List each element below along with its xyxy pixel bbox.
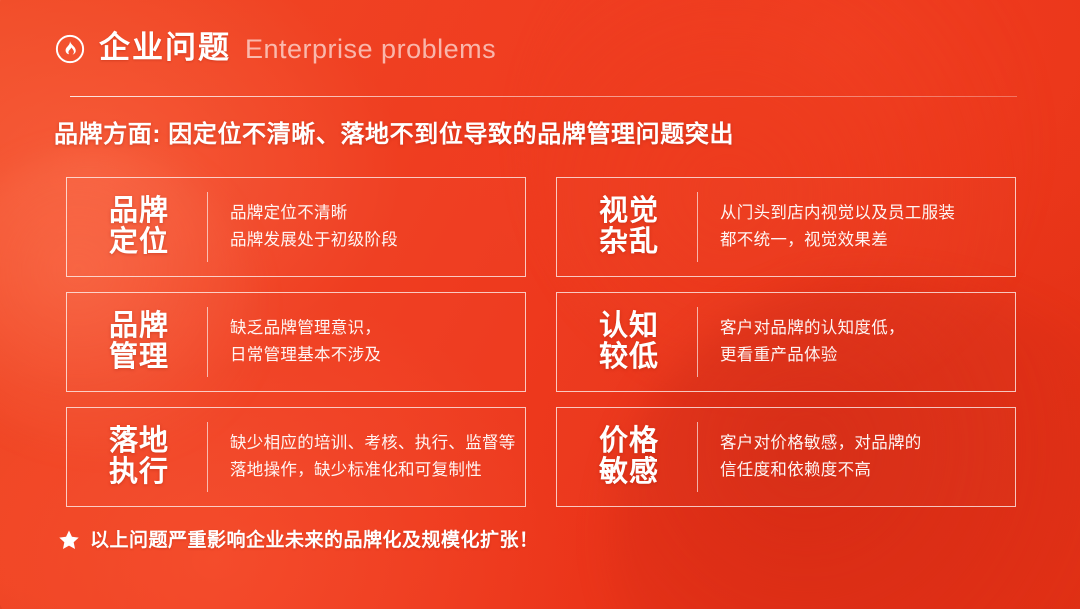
problem-card-desc-line1: 客户对价格敏感，对品牌的 bbox=[720, 430, 1005, 457]
problem-card-desc-line1: 从门头到店内视觉以及员工服装 bbox=[720, 200, 1005, 227]
problem-card-key: 价格 敏感 bbox=[557, 426, 697, 489]
slide-canvas: 企业问题 Enterprise problems 品牌方面: 因定位不清晰、落地… bbox=[0, 0, 1080, 609]
problem-card[interactable]: 品牌 定位 品牌定位不清晰 品牌发展处于初级阶段 bbox=[66, 177, 526, 277]
problem-card-desc-line2: 品牌发展处于初级阶段 bbox=[230, 227, 515, 254]
problem-card-key-line1: 落地 bbox=[71, 426, 207, 457]
problem-card-desc-line1: 缺少相应的培训、考核、执行、监督等 bbox=[230, 430, 516, 457]
problem-card-desc-line2: 落地操作，缺少标准化和可复制性 bbox=[230, 457, 516, 484]
problem-card-desc-line1: 缺乏品牌管理意识， bbox=[230, 315, 515, 342]
footer-conclusion-text: 以上问题严重影响企业未来的品牌化及规模化扩张！ bbox=[90, 531, 539, 550]
slide-content: 企业问题 Enterprise problems 品牌方面: 因定位不清晰、落地… bbox=[0, 0, 1080, 609]
problem-card-key-line2: 执行 bbox=[71, 457, 207, 488]
problem-card-key: 品牌 管理 bbox=[67, 311, 207, 374]
problem-card-key-line1: 认知 bbox=[561, 311, 697, 342]
problem-card-desc-line2: 都不统一，视觉效果差 bbox=[720, 227, 1005, 254]
problem-card-key: 品牌 定位 bbox=[67, 196, 207, 259]
star-icon bbox=[58, 529, 80, 551]
fire-circle-logo-icon bbox=[55, 34, 85, 64]
problem-card-description: 缺乏品牌管理意识， 日常管理基本不涉及 bbox=[208, 315, 525, 368]
problem-card-description: 品牌定位不清晰 品牌发展处于初级阶段 bbox=[208, 200, 525, 253]
problem-card-key-line2: 定位 bbox=[71, 227, 207, 258]
problem-card-key-line1: 品牌 bbox=[71, 196, 207, 227]
problem-card-key-line1: 价格 bbox=[561, 426, 697, 457]
problem-card-desc-line1: 品牌定位不清晰 bbox=[230, 200, 515, 227]
problem-card-desc-line2: 更看重产品体验 bbox=[720, 342, 1005, 369]
problem-card-grid: 品牌 定位 品牌定位不清晰 品牌发展处于初级阶段 视觉 杂乱 从门头到店内视觉以… bbox=[66, 177, 1016, 507]
problem-card-key: 落地 执行 bbox=[67, 426, 207, 489]
problem-card-key-line1: 品牌 bbox=[71, 311, 207, 342]
problem-card-key-line1: 视觉 bbox=[561, 196, 697, 227]
header-divider bbox=[70, 96, 1017, 97]
problem-card-description: 客户对品牌的认知度低， 更看重产品体验 bbox=[698, 315, 1015, 368]
problem-card-desc-line2: 日常管理基本不涉及 bbox=[230, 342, 515, 369]
section-subtitle: 品牌方面: 因定位不清晰、落地不到位导致的品牌管理问题突出 bbox=[54, 121, 734, 150]
problem-card[interactable]: 视觉 杂乱 从门头到店内视觉以及员工服装 都不统一，视觉效果差 bbox=[556, 177, 1016, 277]
problem-card-key-line2: 管理 bbox=[71, 342, 207, 373]
problem-card-key-line2: 杂乱 bbox=[561, 227, 697, 258]
problem-card[interactable]: 落地 执行 缺少相应的培训、考核、执行、监督等 落地操作，缺少标准化和可复制性 bbox=[66, 407, 526, 507]
problem-card-key-line2: 较低 bbox=[561, 342, 697, 373]
problem-card-description: 缺少相应的培训、考核、执行、监督等 落地操作，缺少标准化和可复制性 bbox=[208, 430, 526, 483]
problem-card[interactable]: 认知 较低 客户对品牌的认知度低， 更看重产品体验 bbox=[556, 292, 1016, 392]
problem-card-description: 从门头到店内视觉以及员工服装 都不统一，视觉效果差 bbox=[698, 200, 1015, 253]
problem-card-key: 视觉 杂乱 bbox=[557, 196, 697, 259]
problem-card[interactable]: 品牌 管理 缺乏品牌管理意识， 日常管理基本不涉及 bbox=[66, 292, 526, 392]
problem-card-description: 客户对价格敏感，对品牌的 信任度和依赖度不高 bbox=[698, 430, 1015, 483]
problem-card-desc-line2: 信任度和依赖度不高 bbox=[720, 457, 1005, 484]
page-title-en: Enterprise problems bbox=[245, 36, 496, 63]
page-title-cn: 企业问题 bbox=[99, 32, 231, 63]
slide-footer: 以上问题严重影响企业未来的品牌化及规模化扩张！ bbox=[58, 529, 539, 551]
problem-card-key-line2: 敏感 bbox=[561, 457, 697, 488]
problem-card-desc-line1: 客户对品牌的认知度低， bbox=[720, 315, 1005, 342]
slide-header: 企业问题 Enterprise problems bbox=[55, 32, 496, 63]
problem-card[interactable]: 价格 敏感 客户对价格敏感，对品牌的 信任度和依赖度不高 bbox=[556, 407, 1016, 507]
problem-card-key: 认知 较低 bbox=[557, 311, 697, 374]
